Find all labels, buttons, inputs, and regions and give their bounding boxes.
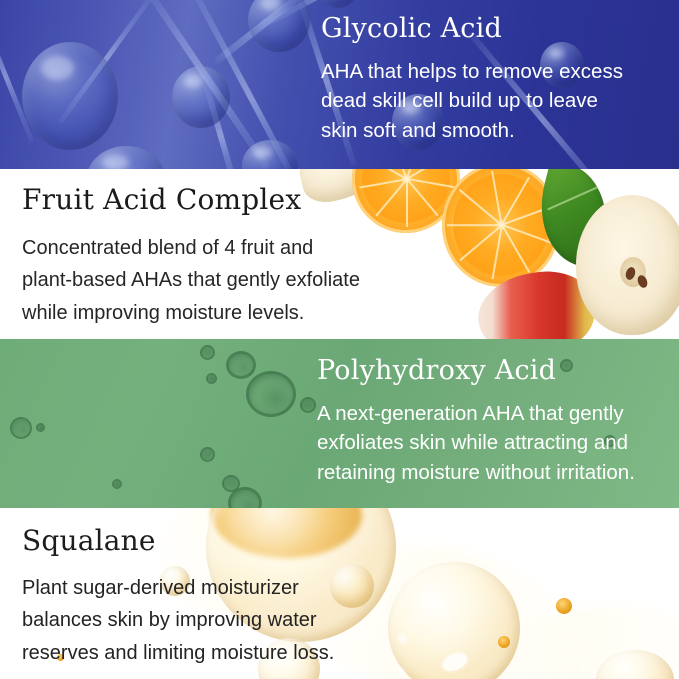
- polyhydroxy-acid-line-2: exfoliates skin while attracting and: [317, 428, 635, 458]
- glycolic-acid-heading: Glycolic Acid: [321, 14, 623, 44]
- ingredient-benefits-infographic: Glycolic Acid AHA that helps to remove e…: [0, 0, 679, 679]
- squalane-description: Plant sugar-derived moisturizer balances…: [22, 572, 334, 669]
- fruit-acid-line-1: Concentrated blend of 4 fruit and: [22, 232, 360, 264]
- squalane-line-2: balances skin by improving water: [22, 604, 334, 636]
- squalane-line-3: reserves and limiting moisture loss.: [22, 637, 334, 669]
- orange-slice-front: [442, 169, 560, 287]
- glycolic-acid-line-1: AHA that helps to remove excess: [321, 57, 623, 87]
- glycolic-acid-line-2: dead skill cell build up to leave: [321, 86, 623, 116]
- panel-squalane: Squalane Plant sugar-derived moisturizer…: [0, 508, 679, 679]
- glycolic-acid-description: AHA that helps to remove excess dead ski…: [321, 57, 623, 146]
- glycolic-acid-text-block: Glycolic Acid AHA that helps to remove e…: [321, 14, 623, 146]
- fruit-acid-complex-description: Concentrated blend of 4 fruit and plant-…: [22, 232, 360, 329]
- glycolic-acid-line-3: skin soft and smooth.: [321, 116, 623, 146]
- squalane-text-block: Squalane Plant sugar-derived moisturizer…: [22, 526, 334, 669]
- fruit-acid-line-2: plant-based AHAs that gently exfoliate: [22, 264, 360, 296]
- polyhydroxy-acid-description: A next-generation AHA that gently exfoli…: [317, 399, 635, 488]
- polyhydroxy-acid-line-3: retaining moisture without irritation.: [317, 458, 635, 488]
- fruit-acid-line-3: while improving moisture levels.: [22, 297, 360, 329]
- polyhydroxy-acid-heading: Polyhydroxy Acid: [317, 356, 635, 386]
- panel-glycolic-acid: Glycolic Acid AHA that helps to remove e…: [0, 0, 679, 169]
- polyhydroxy-acid-line-1: A next-generation AHA that gently: [317, 399, 635, 429]
- panel-polyhydroxy-acid: Polyhydroxy Acid A next-generation AHA t…: [0, 339, 679, 508]
- oil-bubble-small: [330, 564, 374, 608]
- fruit-acid-text-block: Fruit Acid Complex Concentrated blend of…: [22, 185, 360, 329]
- apple-half: [576, 195, 679, 335]
- panel-fruit-acid-complex: Fruit Acid Complex Concentrated blend of…: [0, 169, 679, 339]
- polyhydroxy-acid-text-block: Polyhydroxy Acid A next-generation AHA t…: [317, 356, 635, 488]
- squalane-line-1: Plant sugar-derived moisturizer: [22, 572, 334, 604]
- squalane-heading: Squalane: [22, 526, 334, 557]
- fruit-acid-complex-heading: Fruit Acid Complex: [22, 185, 360, 216]
